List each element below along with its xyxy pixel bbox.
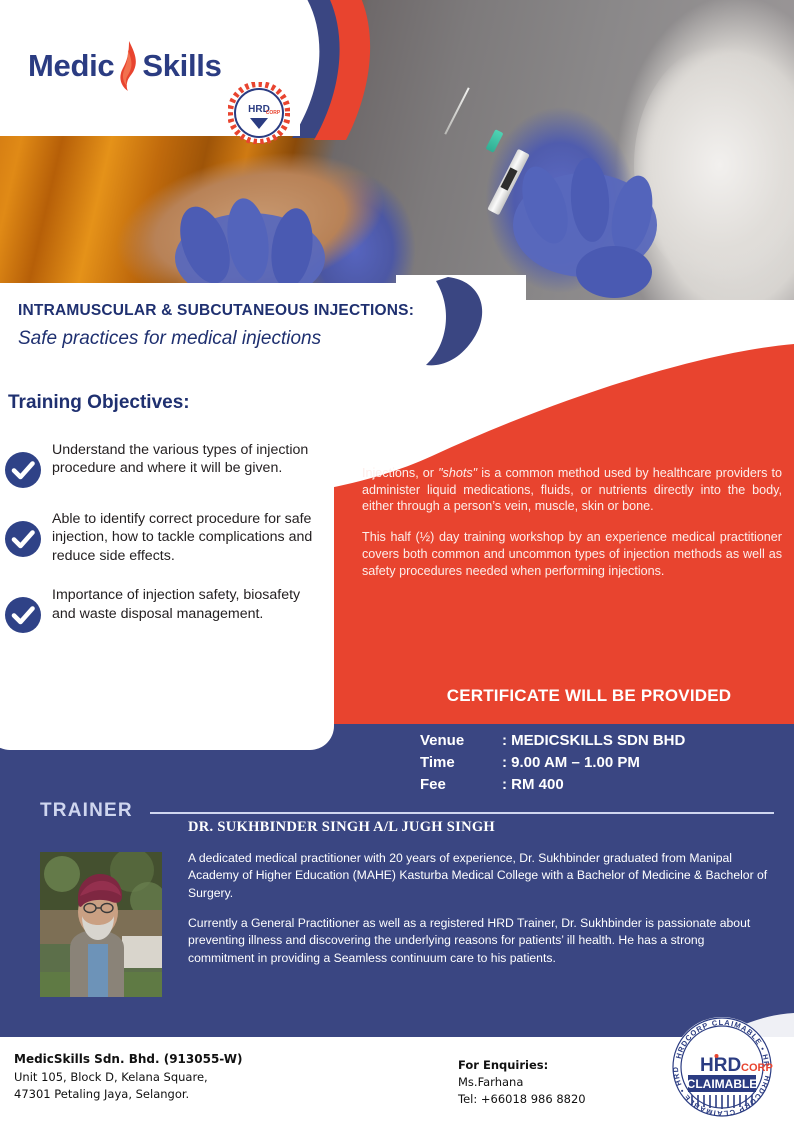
- flyer-page: Medic Skills HRD CORP INTRAMUSCULAR & SU…: [0, 0, 794, 1123]
- description-block: Injections, or "shots" is a common metho…: [362, 465, 782, 593]
- objectives-heading: Training Objectives:: [8, 392, 190, 414]
- detail-row: Venue : MEDICSKILLS SDN BHD: [420, 732, 685, 749]
- detail-label: Fee: [420, 776, 502, 793]
- check-circle-icon: [4, 520, 42, 558]
- desc-p1-before: Injections, or: [362, 466, 438, 480]
- badge-text-claimable: CLAIMABLE: [687, 1077, 758, 1091]
- brand-name-skills: Skills: [142, 48, 221, 84]
- objective-text: Understand the various types of injectio…: [52, 437, 326, 478]
- trainer-name: DR. SUKHBINDER SINGH A/L JUGH SINGH: [188, 819, 495, 836]
- list-item: Able to identify correct procedure for s…: [0, 506, 326, 565]
- badge-text-corp: CORP: [741, 1062, 773, 1074]
- objectives-list: Understand the various types of injectio…: [0, 437, 326, 651]
- detail-value: : 9.00 AM – 1.00 PM: [502, 754, 640, 771]
- trainer-section-label: TRAINER: [40, 800, 133, 822]
- check-circle-icon: [4, 596, 42, 634]
- trainer-bio: A dedicated medical practitioner with 20…: [188, 850, 770, 980]
- brand-name-medic: Medic: [28, 48, 114, 84]
- flame-icon: [115, 40, 141, 92]
- hrd-corp-claimable-badge: HRDCORP CLAIMABLE • HRDCORP CLAIMABLE HR…: [658, 1005, 786, 1123]
- trainer-bio-paragraph-1: A dedicated medical practitioner with 20…: [188, 850, 770, 902]
- detail-value: : MEDICSKILLS SDN BHD: [502, 732, 685, 749]
- event-details: Venue : MEDICSKILLS SDN BHD Time : 9.00 …: [420, 732, 685, 798]
- description-paragraph-1: Injections, or "shots" is a common metho…: [362, 465, 782, 515]
- training-objectives-card: Training Objectives: Understand the vari…: [0, 375, 334, 750]
- trainer-portrait-photo: [40, 852, 162, 997]
- contact-telephone: Tel: +66018 986 8820: [458, 1091, 586, 1108]
- svg-text:CORP: CORP: [266, 110, 281, 116]
- company-name: MedicSkills Sdn. Bhd. (913055-W): [14, 1051, 242, 1069]
- trainer-divider: [150, 812, 774, 814]
- check-circle-icon: [4, 451, 42, 489]
- detail-value: : RM 400: [502, 776, 564, 793]
- page-title: INTRAMUSCULAR & SUBCUTANEOUS INJECTIONS:: [18, 302, 414, 320]
- detail-label: Venue: [420, 732, 502, 749]
- list-item: Understand the various types of injectio…: [0, 437, 326, 489]
- badge-text-hrd: HRD: [700, 1055, 741, 1076]
- company-info: MedicSkills Sdn. Bhd. (913055-W) Unit 10…: [14, 1051, 242, 1103]
- title-blob-decoration: [396, 275, 526, 383]
- objective-text: Able to identify correct procedure for s…: [52, 506, 326, 565]
- list-item: Importance of injection safety, biosafet…: [0, 582, 326, 634]
- enquiries-info: For Enquiries: Ms.Farhana Tel: +66018 98…: [458, 1057, 586, 1108]
- detail-row: Fee : RM 400: [420, 776, 685, 793]
- company-address-line-2: 47301 Petaling Jaya, Selangor.: [14, 1086, 242, 1103]
- trainer-bio-paragraph-2: Currently a General Practitioner as well…: [188, 915, 770, 967]
- detail-row: Time : 9.00 AM – 1.00 PM: [420, 754, 685, 771]
- page-subtitle: Safe practices for medical injections: [18, 328, 321, 350]
- company-address-line-1: Unit 105, Block D, Kelana Square,: [14, 1069, 242, 1086]
- detail-label: Time: [420, 754, 502, 771]
- description-paragraph-2: This half (½) day training workshop by a…: [362, 529, 782, 579]
- objective-text: Importance of injection safety, biosafet…: [52, 582, 326, 623]
- desc-p1-quote: "shots": [438, 466, 477, 480]
- brand-logo: Medic Skills: [28, 40, 222, 92]
- enquiries-heading: For Enquiries:: [458, 1057, 586, 1074]
- contact-name: Ms.Farhana: [458, 1074, 586, 1091]
- certificate-banner: CERTIFICATE WILL BE PROVIDED: [384, 686, 794, 706]
- hrd-corp-registered-icon: HRD CORP: [228, 82, 290, 144]
